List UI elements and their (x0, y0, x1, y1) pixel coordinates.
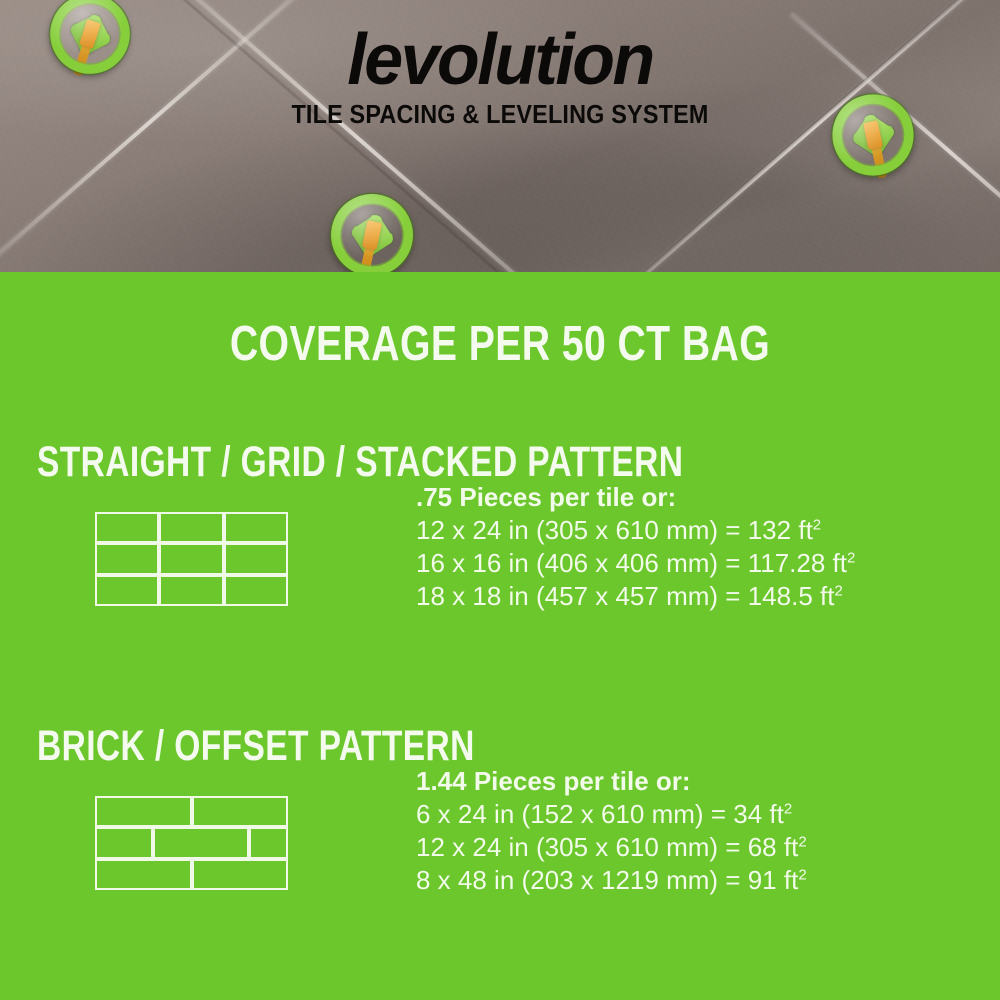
straight-grid-pattern-diagram (95, 512, 288, 606)
coverage-area: 148.5 (748, 581, 813, 611)
section-heading: STRAIGHT / GRID / STACKED PATTERN (37, 440, 683, 485)
grid-cell (95, 575, 159, 606)
coverage-line-mm: (406 x 406 mm) (536, 548, 718, 578)
coverage-equals: = (725, 832, 740, 862)
coverage-line-text: 8 x 48 in (416, 865, 514, 895)
pieces-per-tile-lead: 1.44 Pieces per tile or: (416, 765, 807, 798)
coverage-line: 18 x 18 in (457 x 457 mm) = 148.5 ft2 (416, 580, 855, 613)
coverage-infographic: levolution TILE SPACING & LEVELING SYSTE… (0, 0, 1000, 1000)
coverage-unit: ft (784, 832, 798, 862)
coverage-line: 6 x 24 in (152 x 610 mm) = 34 ft2 (416, 798, 807, 831)
coverage-area: 117.28 (748, 548, 826, 578)
brick-cell (95, 827, 153, 858)
brick-cell (95, 796, 192, 827)
grid-cell (224, 543, 288, 574)
coverage-line-text: 16 x 16 in (416, 548, 529, 578)
coverage-equals: = (725, 548, 740, 578)
grid-cell (224, 512, 288, 543)
grid-cell (159, 543, 223, 574)
coverage-unit: ft (798, 515, 812, 545)
brick-cell (95, 859, 192, 890)
coverage-line-mm: (203 x 1219 mm) (522, 865, 719, 895)
coverage-line-mm: (152 x 610 mm) (522, 799, 704, 829)
coverage-panel: COVERAGE PER 50 CT BAG STRAIGHT / GRID /… (0, 272, 1000, 1000)
coverage-text-brick: 1.44 Pieces per tile or: 6 x 24 in (152 … (416, 765, 807, 897)
coverage-line: 12 x 24 in (305 x 610 mm) = 68 ft2 (416, 831, 807, 864)
grid-cell (224, 575, 288, 606)
grid-cell (159, 575, 223, 606)
coverage-unit-exponent: 2 (847, 549, 855, 566)
brick-cell (192, 859, 289, 890)
coverage-unit-exponent: 2 (834, 582, 842, 599)
page-title: COVERAGE PER 50 CT BAG (100, 318, 900, 370)
coverage-line-mm: (457 x 457 mm) (536, 581, 718, 611)
coverage-equals: = (725, 515, 740, 545)
grid-cell (95, 543, 159, 574)
coverage-text-straight: .75 Pieces per tile or: 12 x 24 in (305 … (416, 481, 855, 613)
grid-cell (95, 512, 159, 543)
hero-photo: levolution TILE SPACING & LEVELING SYSTE… (0, 0, 1000, 272)
coverage-line: 12 x 24 in (305 x 610 mm) = 132 ft2 (416, 514, 855, 547)
brick-cell (249, 827, 288, 858)
section-heading: BRICK / OFFSET PATTERN (37, 724, 475, 769)
coverage-line-text: 6 x 24 in (416, 799, 514, 829)
coverage-line-mm: (305 x 610 mm) (536, 832, 718, 862)
coverage-unit: ft (784, 865, 798, 895)
coverage-equals: = (711, 799, 726, 829)
coverage-line-mm: (305 x 610 mm) (536, 515, 718, 545)
coverage-unit: ft (769, 799, 783, 829)
brand-name: levolution (15, 24, 985, 96)
brick-cell (192, 796, 289, 827)
coverage-unit-exponent: 2 (798, 866, 806, 883)
coverage-area: 68 (748, 832, 777, 862)
coverage-unit-exponent: 2 (813, 516, 821, 533)
brand-tagline: TILE SPACING & LEVELING SYSTEM (50, 99, 950, 129)
grid-cell (159, 512, 223, 543)
coverage-equals: = (725, 865, 740, 895)
coverage-area: 132 (748, 515, 791, 545)
coverage-line: 16 x 16 in (406 x 406 mm) = 117.28 ft2 (416, 547, 855, 580)
coverage-unit-exponent: 2 (798, 833, 806, 850)
coverage-line-text: 12 x 24 in (416, 832, 529, 862)
coverage-area: 34 (733, 799, 762, 829)
coverage-equals: = (725, 581, 740, 611)
pieces-per-tile-lead: .75 Pieces per tile or: (416, 481, 855, 514)
coverage-unit-exponent: 2 (784, 800, 792, 817)
coverage-line-text: 12 x 24 in (416, 515, 529, 545)
coverage-unit: ft (833, 548, 847, 578)
coverage-unit: ft (820, 581, 834, 611)
coverage-line: 8 x 48 in (203 x 1219 mm) = 91 ft2 (416, 864, 807, 897)
brick-offset-pattern-diagram (95, 796, 288, 890)
coverage-area: 91 (748, 865, 777, 895)
brick-cell (153, 827, 250, 858)
coverage-line-text: 18 x 18 in (416, 581, 529, 611)
brand-logo: levolution TILE SPACING & LEVELING SYSTE… (0, 24, 1000, 129)
